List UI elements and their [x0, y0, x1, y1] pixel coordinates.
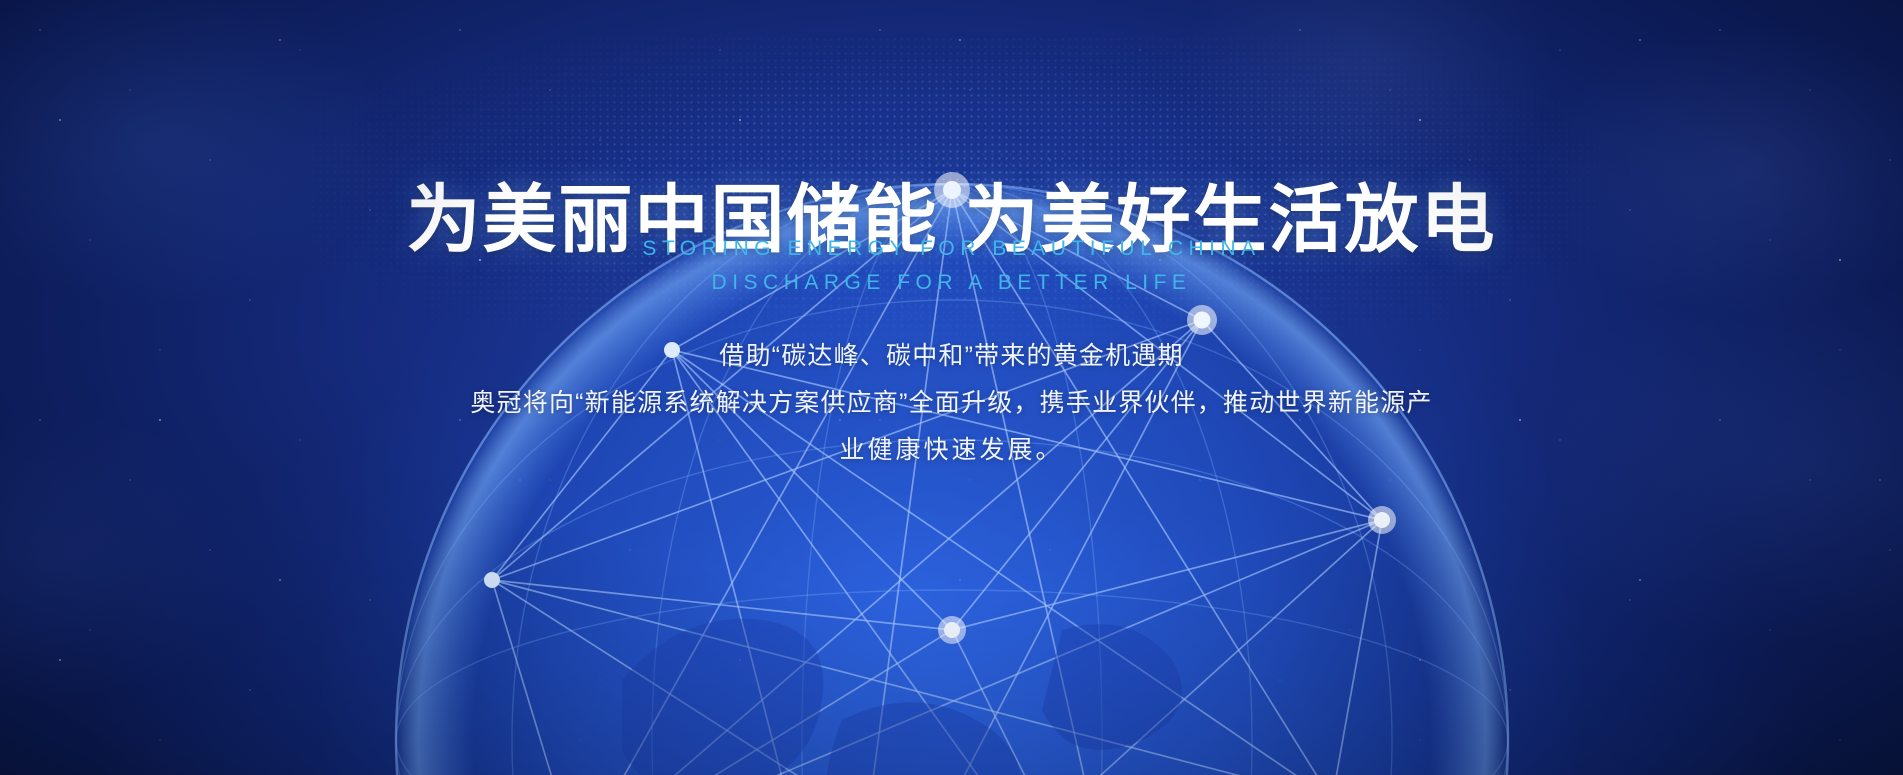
body-line-2: 奥冠将向“新能源系统解决方案供应商”全面升级，携手业界伙伴，推动世界新能源产	[387, 380, 1517, 427]
subtitle-en-line-1: STORING ENERGY FOR BEAUTIFUL CHINA	[0, 232, 1903, 266]
body-line-1: 借助“碳达峰、碳中和”带来的黄金机遇期	[387, 333, 1517, 380]
body-line-3: 业健康快速发展。	[387, 427, 1517, 474]
hero-banner: 为美丽中国储能为美好生活放电 STORING ENERGY FOR BEAUTI…	[0, 0, 1903, 775]
subtitle-english: STORING ENERGY FOR BEAUTIFUL CHINA DISCH…	[0, 232, 1903, 300]
body-copy: 借助“碳达峰、碳中和”带来的黄金机遇期 奥冠将向“新能源系统解决方案供应商”全面…	[387, 333, 1517, 474]
banner-content: 为美丽中国储能为美好生活放电 STORING ENERGY FOR BEAUTI…	[0, 0, 1903, 775]
subtitle-en-line-2: DISCHARGE FOR A BETTER LIFE	[0, 266, 1903, 300]
